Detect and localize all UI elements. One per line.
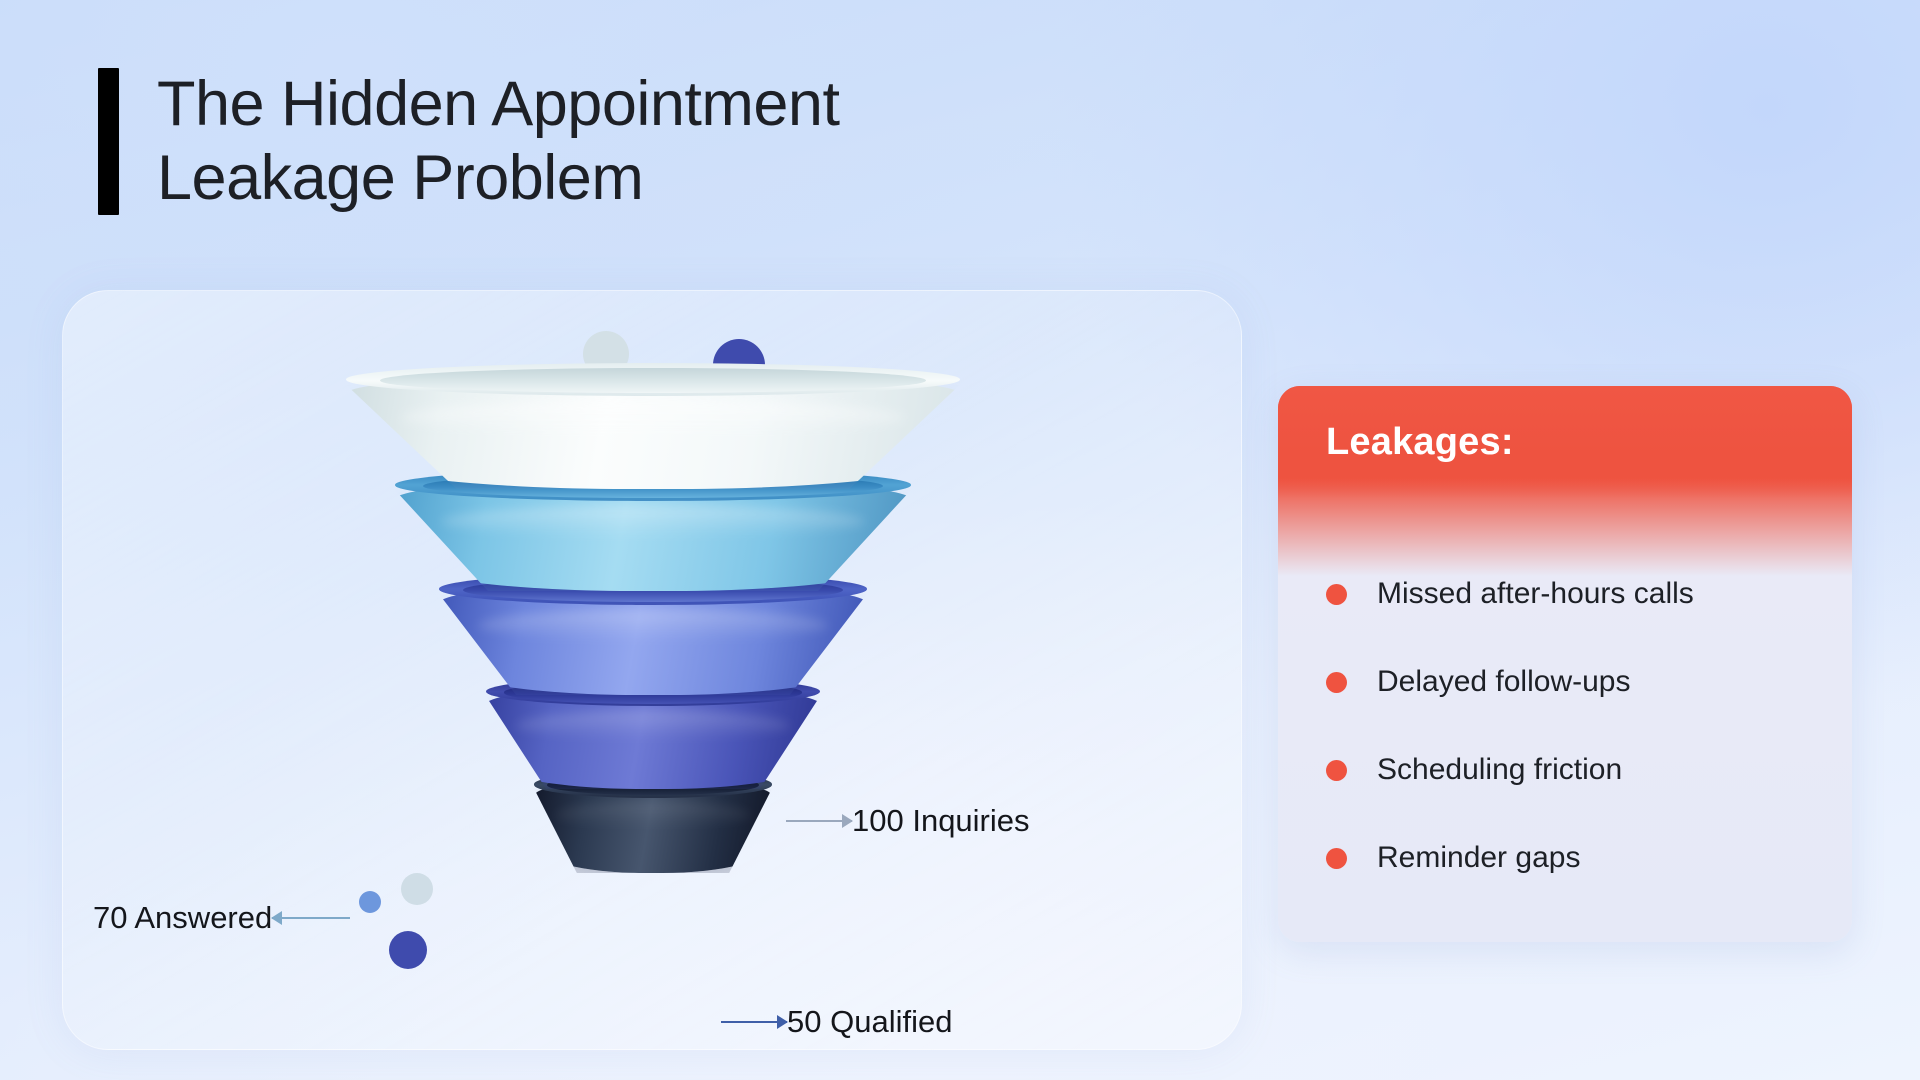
bullet-dot-icon — [1326, 672, 1347, 693]
funnel-layer-gloss — [478, 610, 829, 642]
funnel-layer-qualified[interactable] — [439, 573, 867, 695]
decorative-dot-bottom-light — [401, 873, 433, 905]
funnel-label-inquiries: 100 Inquiries — [786, 803, 1030, 839]
list-item[interactable]: Missed after-hours calls — [1326, 550, 1852, 638]
funnel-arrow-qualified — [721, 1021, 787, 1023]
leakages-heading: Leakages: — [1326, 421, 1514, 464]
funnel-arrow-inquiries — [786, 820, 852, 822]
funnel-layer-inquiries[interactable] — [346, 363, 960, 489]
leakages-list: Missed after-hours calls Delayed follow-… — [1278, 498, 1852, 902]
page-title: The Hidden Appointment Leakage Problem — [157, 68, 839, 215]
list-item[interactable]: Reminder gaps — [1326, 814, 1852, 902]
bullet-dot-icon — [1326, 760, 1347, 781]
funnel-label-text: 70 Answered — [93, 900, 272, 936]
title-accent-bar — [98, 68, 119, 215]
funnel-layer-cavity — [380, 368, 926, 393]
leakage-item-label: Reminder gaps — [1377, 841, 1580, 875]
leakage-item-label: Delayed follow-ups — [1377, 665, 1630, 699]
decorative-dot-bottom-blue — [359, 891, 381, 913]
funnel-layer-gloss — [401, 401, 905, 434]
funnel-label-text: 50 Qualified — [787, 1004, 952, 1040]
leakage-item-label: Missed after-hours calls — [1377, 577, 1694, 611]
funnel-panel: 100 Inquiries 70 Answered 50 Qualified 3… — [62, 290, 1242, 1050]
funnel-label-qualified: 50 Qualified — [721, 1004, 952, 1040]
leakages-card-header: Leakages: — [1278, 386, 1852, 498]
funnel-layer-gloss — [516, 711, 790, 740]
list-item[interactable]: Delayed follow-ups — [1326, 638, 1852, 726]
bullet-dot-icon — [1326, 584, 1347, 605]
funnel-layer-gloss — [441, 506, 864, 538]
decorative-dot-bottom-indigo — [389, 931, 427, 969]
funnel-arrow-answered — [272, 917, 350, 919]
funnel-illustration: 100 Inquiries 70 Answered 50 Qualified 3… — [293, 311, 1013, 1031]
leakages-card: Leakages: Missed after-hours calls Delay… — [1278, 386, 1852, 942]
funnel-label-text: 100 Inquiries — [852, 803, 1030, 839]
funnel-label-answered: 70 Answered — [93, 900, 350, 936]
leakage-item-label: Scheduling friction — [1377, 753, 1622, 787]
funnel-layer-gloss — [555, 802, 750, 829]
page-header: The Hidden Appointment Leakage Problem — [98, 68, 839, 215]
bullet-dot-icon — [1326, 848, 1347, 869]
list-item[interactable]: Scheduling friction — [1326, 726, 1852, 814]
